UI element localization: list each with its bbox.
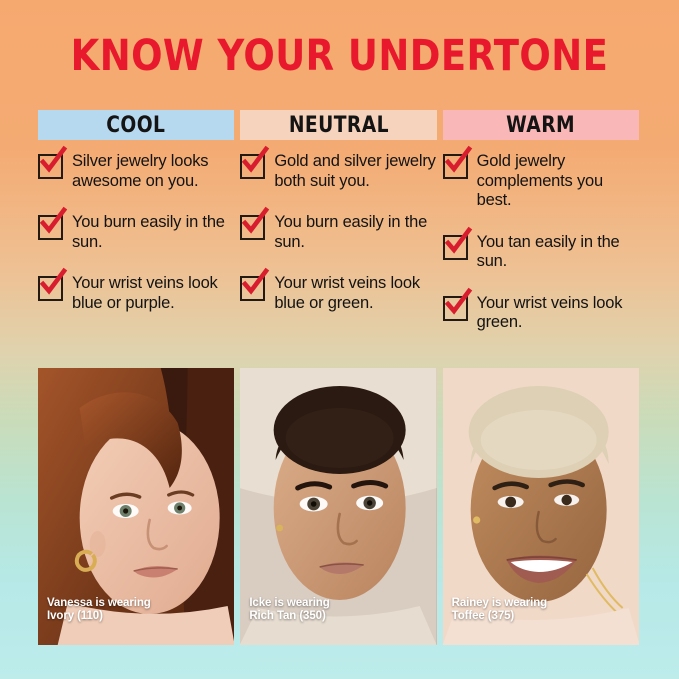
checklist-columns: Silver jewelry looks awesome on you. You… <box>38 152 639 333</box>
checkbox-checked-icon <box>443 296 468 321</box>
photo-caption-warm: Rainey is wearing Toffee (375) <box>452 597 547 623</box>
model-photo-neutral: Icke is wearing Rich Tan (350) <box>240 368 436 645</box>
checklist-item: Silver jewelry looks awesome on you. <box>38 152 234 191</box>
checkbox-checked-icon <box>38 154 63 179</box>
checklist-item: Gold jewelry complements you best. <box>443 152 639 211</box>
model-photo-cool: Vanessa is wearing Ivory (110) <box>38 368 234 645</box>
checklist-item: Your wrist veins look blue or purple. <box>38 274 234 313</box>
checkbox-checked-icon <box>240 215 265 240</box>
checklist-item-label: Gold jewelry complements you best. <box>477 152 639 211</box>
checklist-item: You burn easily in the sun. <box>38 213 234 252</box>
column-header-neutral-label: NEUTRAL <box>288 113 388 138</box>
model-photo-row: Vanessa is wearing Ivory (110) <box>38 368 639 645</box>
checklist-item-label: You tan easily in the sun. <box>477 233 639 272</box>
caption-line-1: Rainey is wearing <box>452 597 547 610</box>
caption-line-1: Icke is wearing <box>249 597 329 610</box>
column-header-cool: COOL <box>38 110 234 140</box>
caption-line-2: Rich Tan (350) <box>249 610 329 623</box>
checkbox-checked-icon <box>38 276 63 301</box>
column-header-warm: WARM <box>443 110 639 140</box>
checklist-item: Your wrist veins look blue or green. <box>240 274 436 313</box>
column-header-warm-label: WARM <box>506 113 575 138</box>
checklist-column-cool: Silver jewelry looks awesome on you. You… <box>38 152 234 333</box>
column-header-neutral: NEUTRAL <box>240 110 436 140</box>
checklist-item-label: Your wrist veins look blue or green. <box>274 274 436 313</box>
checklist-item-label: You burn easily in the sun. <box>274 213 436 252</box>
undertone-infographic: KNOW YOUR UNDERTONE COOL NEUTRAL WARM Si… <box>0 0 679 679</box>
checklist-column-neutral: Gold and silver jewelry both suit you. Y… <box>240 152 436 333</box>
checklist-item: You burn easily in the sun. <box>240 213 436 252</box>
checklist-item-label: Your wrist veins look green. <box>477 294 639 333</box>
column-header-row: COOL NEUTRAL WARM <box>38 110 639 140</box>
page-title: KNOW YOUR UNDERTONE <box>48 33 632 79</box>
checklist-item-label: Silver jewelry looks awesome on you. <box>72 152 234 191</box>
checkbox-checked-icon <box>443 235 468 260</box>
caption-line-2: Ivory (110) <box>47 610 151 623</box>
model-photo-warm: Rainey is wearing Toffee (375) <box>443 368 639 645</box>
checkbox-checked-icon <box>240 154 265 179</box>
checklist-item-label: Your wrist veins look blue or purple. <box>72 274 234 313</box>
checklist-item: You tan easily in the sun. <box>443 233 639 272</box>
checklist-item-label: You burn easily in the sun. <box>72 213 234 252</box>
checklist-item: Your wrist veins look green. <box>443 294 639 333</box>
photo-caption-neutral: Icke is wearing Rich Tan (350) <box>249 597 329 623</box>
checklist-column-warm: Gold jewelry complements you best. You t… <box>443 152 639 333</box>
photo-caption-cool: Vanessa is wearing Ivory (110) <box>47 597 151 623</box>
checkbox-checked-icon <box>38 215 63 240</box>
checkbox-checked-icon <box>240 276 265 301</box>
caption-line-2: Toffee (375) <box>452 610 547 623</box>
checklist-item-label: Gold and silver jewelry both suit you. <box>274 152 436 191</box>
checklist-item: Gold and silver jewelry both suit you. <box>240 152 436 191</box>
checkbox-checked-icon <box>443 154 468 179</box>
column-header-cool-label: COOL <box>107 113 166 138</box>
caption-line-1: Vanessa is wearing <box>47 597 151 610</box>
